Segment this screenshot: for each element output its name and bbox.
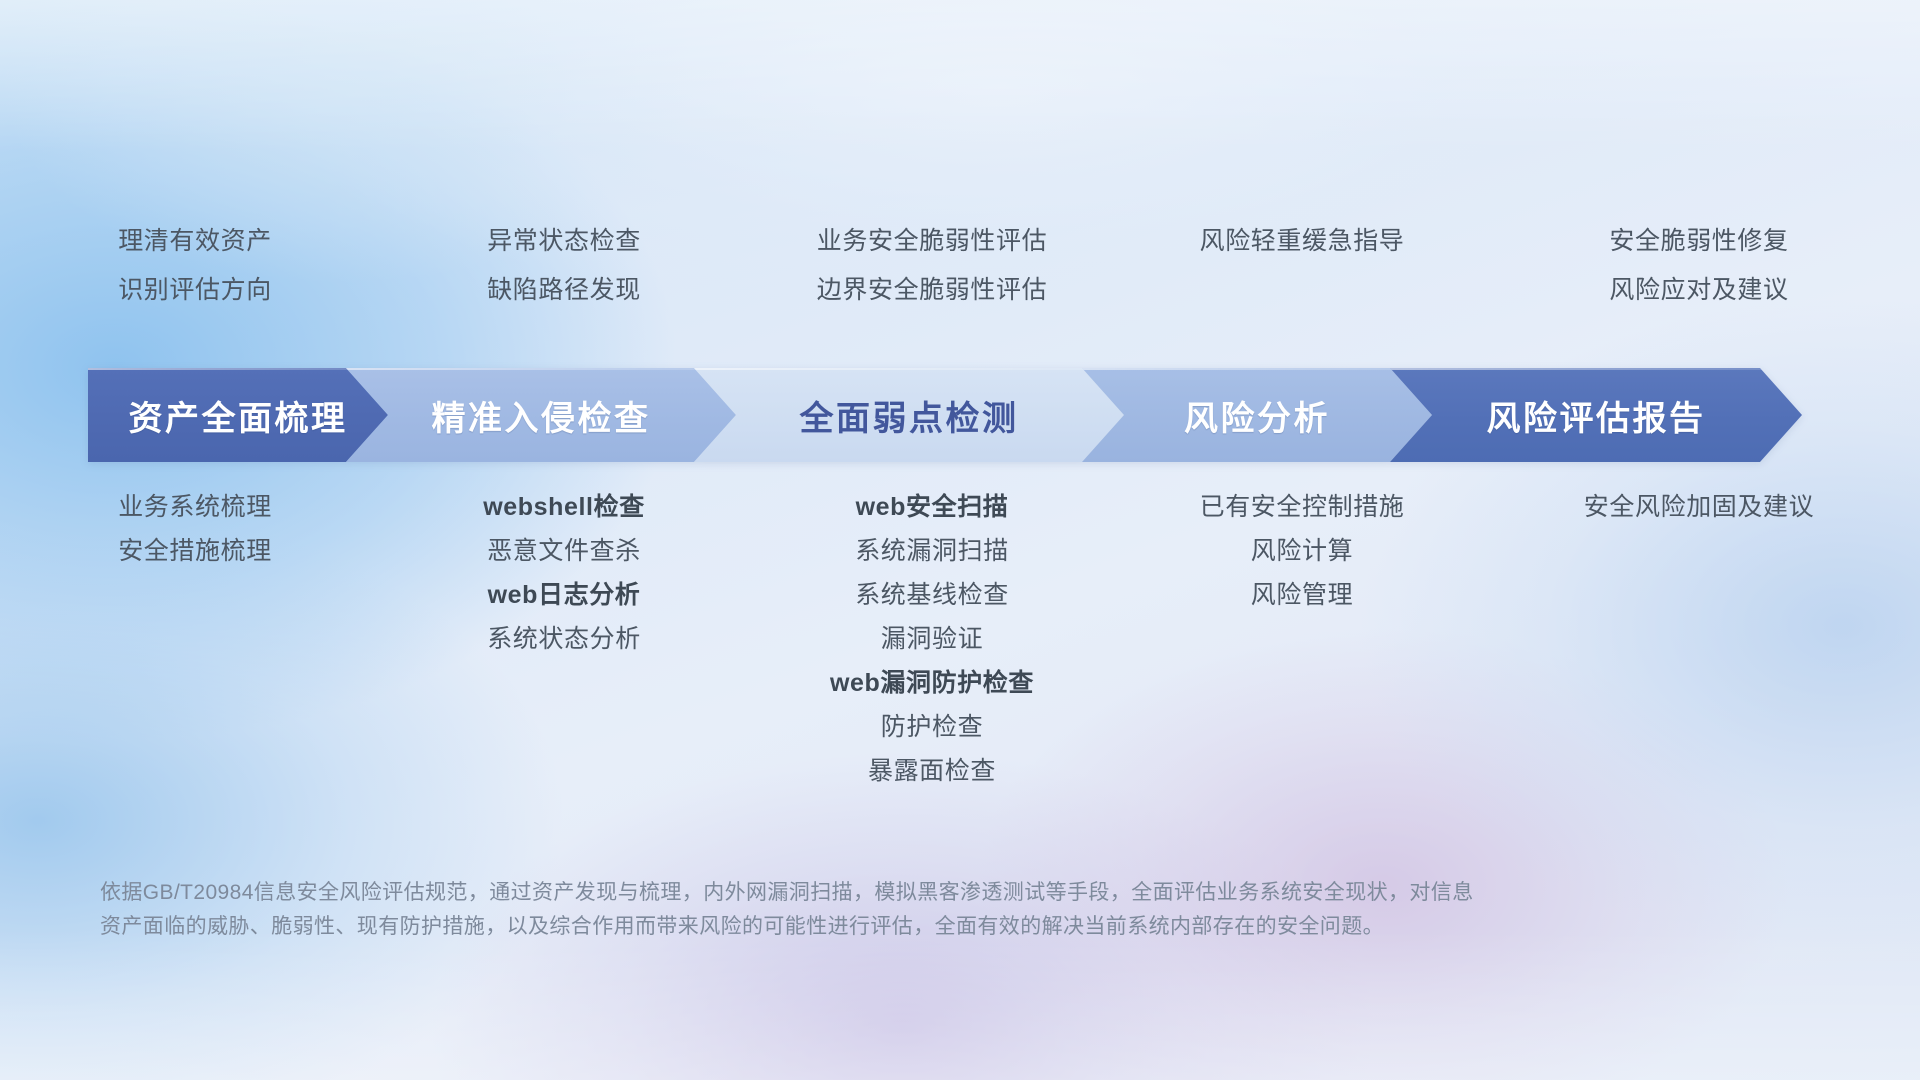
activity-item: 安全风险加固及建议 [1478,493,1920,521]
outcomes-row: 理清有效资产 识别评估方向 异常状态检查 缺陷路径发现 业务安全脆弱性评估 边界… [0,228,1920,304]
outcomes-column-3: 业务安全脆弱性评估 边界安全脆弱性评估 [738,228,1126,304]
outcome-item: 安全脆弱性修复 [1478,228,1920,255]
outcomes-column-5: 安全脆弱性修复 风险应对及建议 [1478,228,1920,304]
stage-chevron-weakness-detection[interactable]: 全面弱点检测 [694,368,1124,462]
outcome-item: 理清有效资产 [0,228,390,255]
stage-chevron-intrusion-check[interactable]: 精准入侵检查 [346,368,736,462]
slide-canvas: 理清有效资产 识别评估方向 异常状态检查 缺陷路径发现 业务安全脆弱性评估 边界… [0,0,1920,1080]
activity-item: 系统基线检查 [738,581,1126,609]
activity-item: web日志分析 [390,581,738,609]
activity-item: web安全扫描 [738,493,1126,521]
description-line-2: 资产面临的威胁、脆弱性、现有防护措施，以及综合作用而带来风险的可能性进行评估，全… [100,910,1740,944]
outcomes-column-4: 风险轻重缓急指导 [1126,228,1478,304]
outcome-item: 风险应对及建议 [1478,277,1920,304]
outcome-item: 边界安全脆弱性评估 [738,277,1126,304]
activity-item: web漏洞防护检查 [738,669,1126,697]
activities-row: 业务系统梳理 安全措施梳理 webshell检查 恶意文件查杀 web日志分析 … [0,493,1920,785]
activity-item: webshell检查 [390,493,738,521]
activity-item: 安全措施梳理 [0,537,390,565]
outcome-item: 缺陷路径发现 [390,277,738,304]
activity-item: 系统状态分析 [390,625,738,653]
activities-column-3: web安全扫描 系统漏洞扫描 系统基线检查 漏洞验证 web漏洞防护检查 防护检… [738,493,1126,785]
activities-column-5: 安全风险加固及建议 [1478,493,1920,521]
stage-label: 精准入侵检查 [432,391,651,440]
stage-label: 资产全面梳理 [129,391,348,440]
stage-label: 风险分析 [1184,391,1330,440]
stage-label: 全面弱点检测 [800,391,1019,440]
outcomes-column-1: 理清有效资产 识别评估方向 [0,228,390,304]
stage-chevron-asset-inventory[interactable]: 资产全面梳理 [88,368,388,462]
activity-item: 风险管理 [1126,581,1478,609]
slide-content: 理清有效资产 识别评估方向 异常状态检查 缺陷路径发现 业务安全脆弱性评估 边界… [0,0,1920,1080]
stage-chevron-risk-analysis[interactable]: 风险分析 [1082,368,1432,462]
activities-column-2: webshell检查 恶意文件查杀 web日志分析 系统状态分析 [390,493,738,653]
activity-item: 风险计算 [1126,537,1478,565]
outcome-item: 风险轻重缓急指导 [1126,228,1478,255]
activity-item: 恶意文件查杀 [390,537,738,565]
outcome-item: 业务安全脆弱性评估 [738,228,1126,255]
outcomes-column-2: 异常状态检查 缺陷路径发现 [390,228,738,304]
activities-column-1: 业务系统梳理 安全措施梳理 [0,493,390,565]
activity-item: 漏洞验证 [738,625,1126,653]
stage-label: 风险评估报告 [1487,391,1706,440]
outcome-item: 识别评估方向 [0,277,390,304]
process-chevron-band: 资产全面梳理 精准入侵检查 全面弱点检测 风险分析 风险评估报告 [88,368,1844,462]
activity-item: 防护检查 [738,713,1126,741]
activity-item: 已有安全控制措施 [1126,493,1478,521]
activity-item: 暴露面检查 [738,757,1126,785]
description-line-1: 依据GB/T20984信息安全风险评估规范，通过资产发现与梳理，内外网漏洞扫描，… [100,876,1740,910]
activities-column-4: 已有安全控制措施 风险计算 风险管理 [1126,493,1478,609]
stage-chevron-risk-report[interactable]: 风险评估报告 [1390,368,1802,462]
outcome-item: 异常状态检查 [390,228,738,255]
activity-item: 业务系统梳理 [0,493,390,521]
description-paragraph: 依据GB/T20984信息安全风险评估规范，通过资产发现与梳理，内外网漏洞扫描，… [100,876,1740,944]
activity-item: 系统漏洞扫描 [738,537,1126,565]
